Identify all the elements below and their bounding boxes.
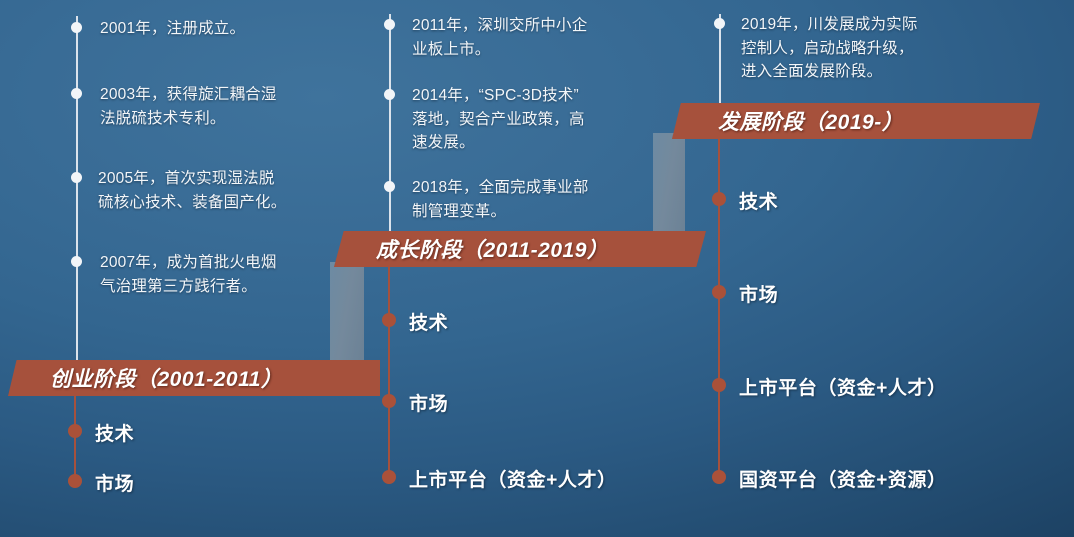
stage-3-bullet-label-4: 国资平台（资金+资源）: [739, 465, 947, 492]
stage-1-bullet-dot-2: [68, 474, 82, 488]
stage-2-banner-label: 成长阶段（2011-2019）: [376, 234, 608, 264]
stage-1-bullet-label-2: 市场: [95, 469, 134, 496]
stage-3-bullet-dot-4: [712, 470, 726, 484]
stage-2-banner[interactable]: 成长阶段（2011-2019）: [334, 231, 706, 267]
stage-1-bullet-dot-1: [68, 424, 82, 438]
stage-2-bullet-rail: [388, 267, 390, 482]
stage-2-bullet-label-2: 市场: [409, 389, 448, 416]
stage-1-event-dot-4: [71, 256, 82, 267]
stage-2-bullet-dot-1: [382, 313, 396, 327]
stage-3-bullet-label-2: 市场: [739, 280, 778, 307]
stage-3-timeline-rail: [719, 14, 721, 114]
stage-2-event-dot-2: [384, 89, 395, 100]
stage-3-event-dot-1: [714, 18, 725, 29]
stage-2-timeline-rail: [389, 14, 391, 242]
stage-3-bullet-label-1: 技术: [739, 187, 778, 214]
stage-3-banner-label: 发展阶段（2019-）: [718, 106, 903, 136]
stage-1-event-dot-2: [71, 88, 82, 99]
stage-1-timeline-rail: [76, 16, 78, 371]
stage-2-event-dot-1: [384, 19, 395, 30]
timeline-slide: 2001年，注册成立。 2003年，获得旋汇耦合湿 法脱硫技术专利。 2005年…: [0, 0, 1074, 537]
stage-2-bullet-label-3: 上市平台（资金+人才）: [409, 465, 617, 492]
stage-2-bullet-dot-2: [382, 394, 396, 408]
stage-3-bullet-label-3: 上市平台（资金+人才）: [739, 373, 947, 400]
stage-2-event-text-2: 2014年，“SPC-3D技术” 落地，契合产业政策，高 速发展。: [412, 84, 642, 155]
stage-2-bullet-dot-3: [382, 470, 396, 484]
stage-1-banner-label: 创业阶段（2001-2011）: [50, 363, 282, 393]
stage-1-event-dot-1: [71, 22, 82, 33]
stage-1-event-text-3: 2005年，首次实现湿法脱 硫核心技术、装备国产化。: [98, 167, 348, 214]
stage-2-event-text-1: 2011年，深圳交所中小企 业板上市。: [412, 14, 642, 61]
stage-2-event-dot-3: [384, 181, 395, 192]
stage-1-bullet-label-1: 技术: [95, 419, 134, 446]
stage-2-event-text-3: 2018年，全面完成事业部 制管理变革。: [412, 176, 642, 223]
stage-3-banner[interactable]: 发展阶段（2019-）: [672, 103, 1040, 139]
stage-2-bullet-label-1: 技术: [409, 308, 448, 335]
stage-1-bullet-rail: [74, 396, 76, 486]
stage-3-event-text-1: 2019年，川发展成为实际 控制人，启动战略升级， 进入全面发展阶段。: [741, 13, 986, 84]
stage-3-bullet-rail: [718, 139, 720, 482]
stage-1-event-dot-3: [71, 172, 82, 183]
stage-1-banner[interactable]: 创业阶段（2001-2011）: [8, 360, 380, 396]
stage-1-event-text-4: 2007年，成为首批火电烟 气治理第三方践行者。: [100, 251, 340, 298]
stage-3-bullet-dot-2: [712, 285, 726, 299]
stage-1-event-text-1: 2001年，注册成立。: [100, 17, 340, 41]
stage-3-bullet-dot-3: [712, 378, 726, 392]
stage-1-event-text-2: 2003年，获得旋汇耦合湿 法脱硫技术专利。: [100, 83, 340, 130]
stage-3-bullet-dot-1: [712, 192, 726, 206]
